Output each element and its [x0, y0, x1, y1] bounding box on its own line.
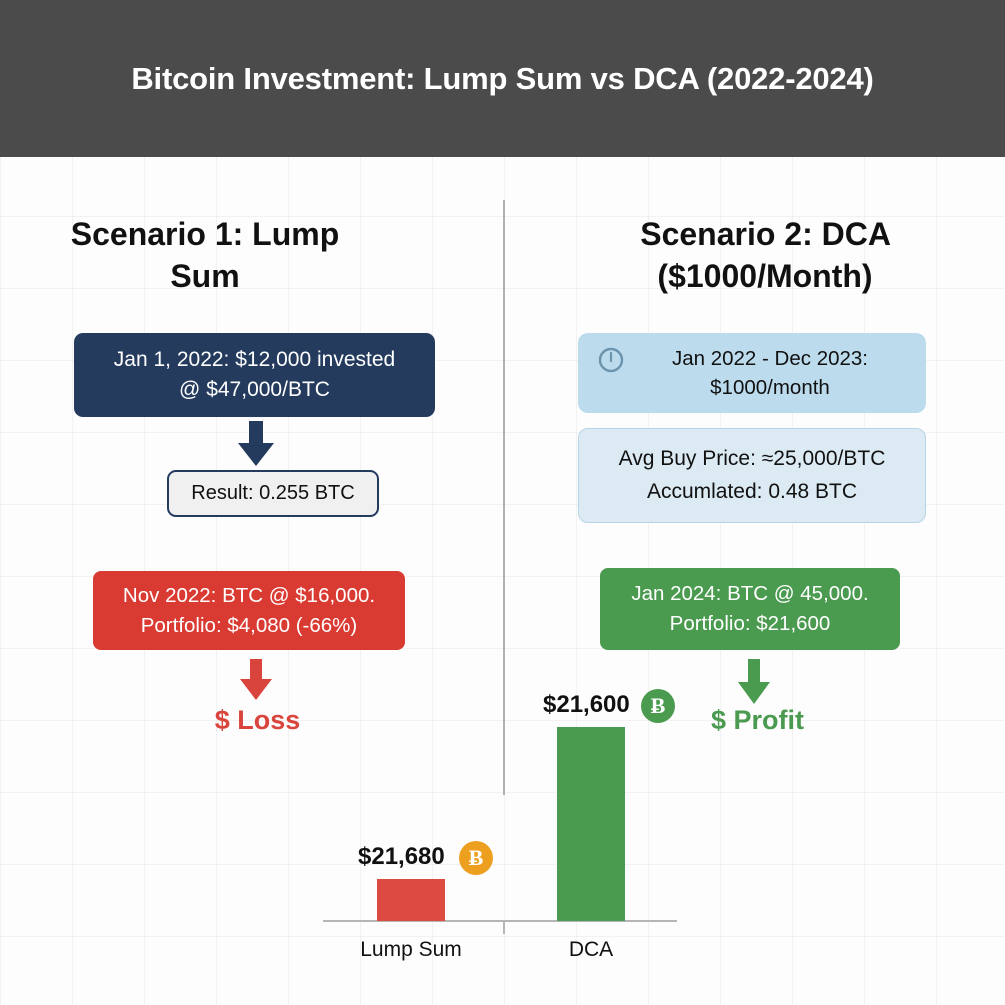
- dca-avg-price-line: Avg Buy Price: ≈25,000/BTC: [587, 443, 917, 476]
- lump-sum-investment-box: Jan 1, 2022: $12,000 invested @ $47,000/…: [74, 333, 435, 417]
- bar-dca: [557, 727, 625, 921]
- chart-axis-tick: [503, 922, 505, 934]
- infographic-canvas: Bitcoin Investment: Lump Sum vs DCA (202…: [0, 0, 1005, 1005]
- dca-outcome-box: Jan 2024: BTC @ 45,000. Portfolio: $21,6…: [600, 568, 900, 650]
- down-arrow-navy-icon: [234, 421, 278, 467]
- bitcoin-coin-icon-dca: Ƀ: [641, 689, 675, 723]
- lump-sum-investment-line1: Jan 1, 2022: $12,000 invested: [84, 345, 425, 375]
- header-banner: Bitcoin Investment: Lump Sum vs DCA (202…: [0, 0, 1005, 157]
- page-title: Bitcoin Investment: Lump Sum vs DCA (202…: [131, 61, 873, 97]
- down-arrow-green-icon: [735, 659, 773, 705]
- dca-outcome-line1: Jan 2024: BTC @ 45,000.: [608, 579, 892, 609]
- lump-sum-result-text: Result: 0.255 BTC: [169, 482, 377, 505]
- dca-schedule-line1: Jan 2022 - Dec 2023:: [624, 344, 916, 373]
- dca-schedule-box: Jan 2022 - Dec 2023: $1000/month: [578, 333, 926, 413]
- bar-lump-sum: [377, 879, 445, 921]
- dca-outcome-line2: Portfolio: $21,600: [608, 609, 892, 639]
- lump-sum-outcome-box: Nov 2022: BTC @ $16,000. Portfolio: $4,0…: [93, 571, 405, 650]
- scenario-1-title-line1: Scenario 1:: [71, 216, 244, 252]
- bar-value-dca: $21,600: [543, 691, 630, 719]
- dca-schedule-line2: $1000/month: [624, 373, 916, 402]
- dca-accumulated-line: Accumlated: 0.48 BTC: [587, 476, 917, 509]
- down-arrow-red-icon: [237, 659, 275, 701]
- column-divider: [503, 200, 505, 795]
- lump-sum-outcome-line2: Portfolio: $4,080 (-66%): [101, 611, 397, 641]
- dca-accumulation-box: Avg Buy Price: ≈25,000/BTC Accumlated: 0…: [578, 428, 926, 523]
- clock-icon: [597, 346, 625, 374]
- bar-value-lump-sum: $21,680: [358, 843, 445, 871]
- lump-sum-investment-line2: @ $47,000/BTC: [84, 375, 425, 405]
- lump-sum-outcome-line1: Nov 2022: BTC @ $16,000.: [101, 581, 397, 611]
- bar-label-dca: DCA: [511, 938, 671, 962]
- bar-label-lump-sum: Lump Sum: [331, 938, 491, 962]
- loss-label: $ Loss: [160, 705, 355, 736]
- scenario-2-title: Scenario 2: DCA ($1000/Month): [575, 213, 955, 297]
- scenario-2-title-line1: Scenario 2: DCA: [640, 216, 890, 252]
- scenario-1-title: Scenario 1: Lump Sum: [35, 213, 375, 297]
- bitcoin-coin-icon-lump-sum: Ƀ: [459, 841, 493, 875]
- scenario-2-title-line2: ($1000/Month): [657, 258, 872, 294]
- lump-sum-result-box: Result: 0.255 BTC: [167, 470, 379, 517]
- profit-label: $ Profit: [660, 705, 855, 736]
